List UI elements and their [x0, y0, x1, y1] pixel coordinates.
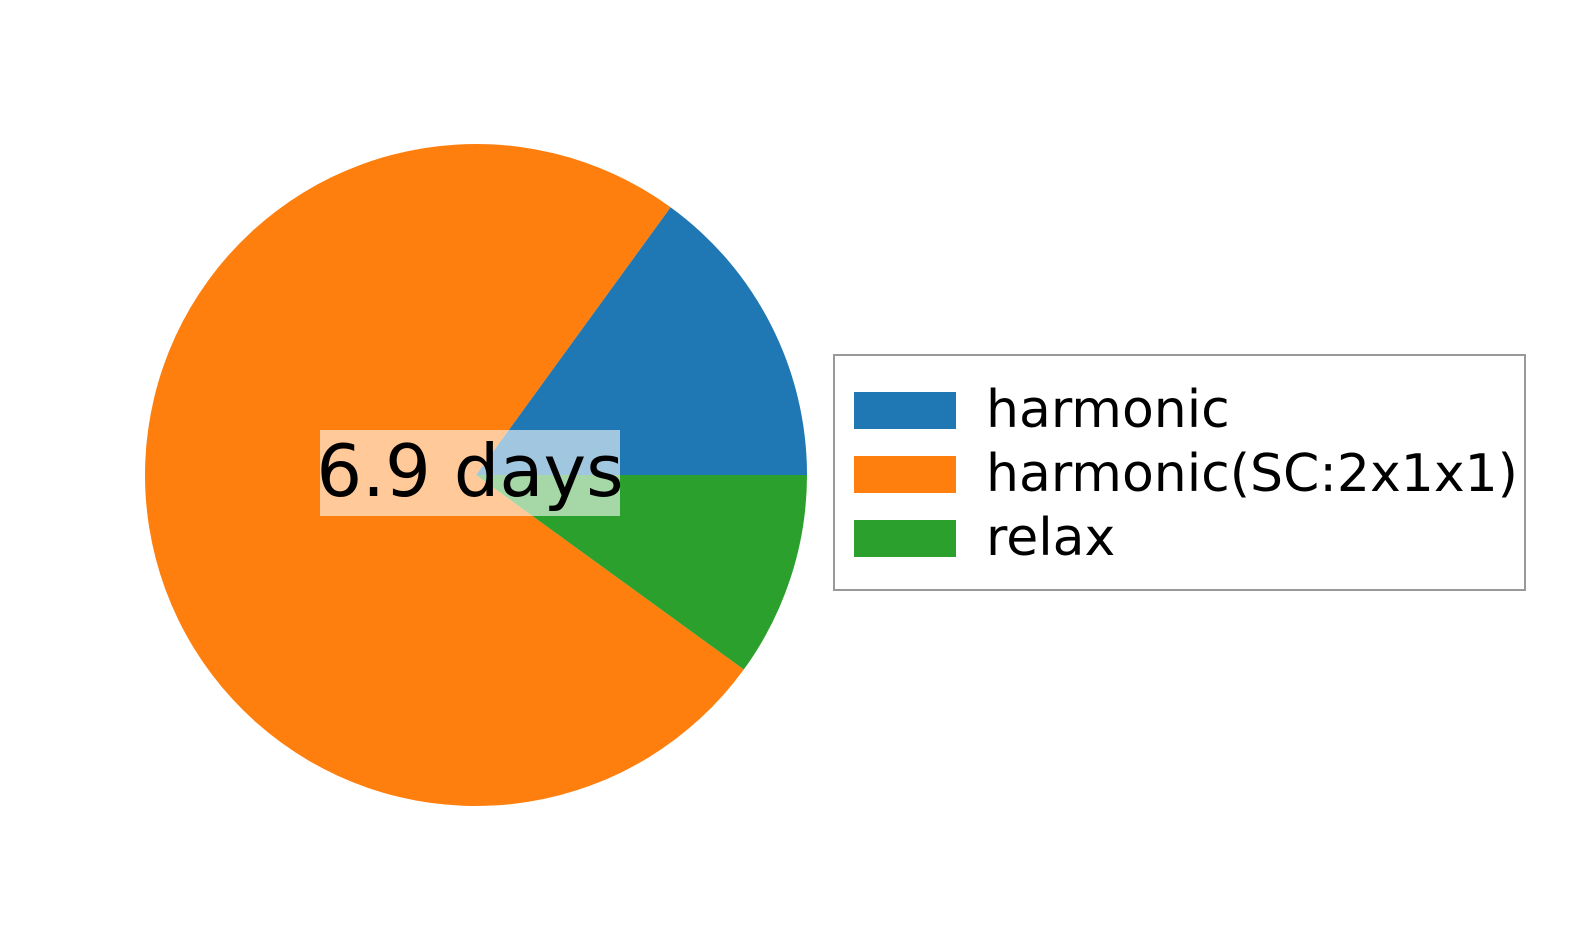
legend-label-harmonic: harmonic [986, 384, 1230, 436]
center-total-annotation: 6.9 days [320, 430, 620, 516]
legend-label-relax: relax [986, 512, 1115, 564]
legend-item-harmonic[interactable]: harmonic [835, 378, 1524, 442]
legend-box: harmonic harmonic(SC:2x1x1) relax [833, 354, 1526, 591]
legend-swatch-relax [854, 520, 956, 557]
legend-label-harmonic-sc-2x1x1: harmonic(SC:2x1x1) [986, 448, 1518, 500]
legend-swatch-harmonic [854, 392, 956, 429]
legend-item-relax[interactable]: relax [835, 506, 1524, 570]
legend-item-harmonic-sc-2x1x1[interactable]: harmonic(SC:2x1x1) [835, 442, 1524, 506]
center-total-text: 6.9 days [316, 435, 623, 507]
legend-swatch-harmonic-sc-2x1x1 [854, 456, 956, 493]
pie-chart-figure: 6.9 days harmonic harmonic(SC:2x1x1) rel… [0, 0, 1584, 951]
